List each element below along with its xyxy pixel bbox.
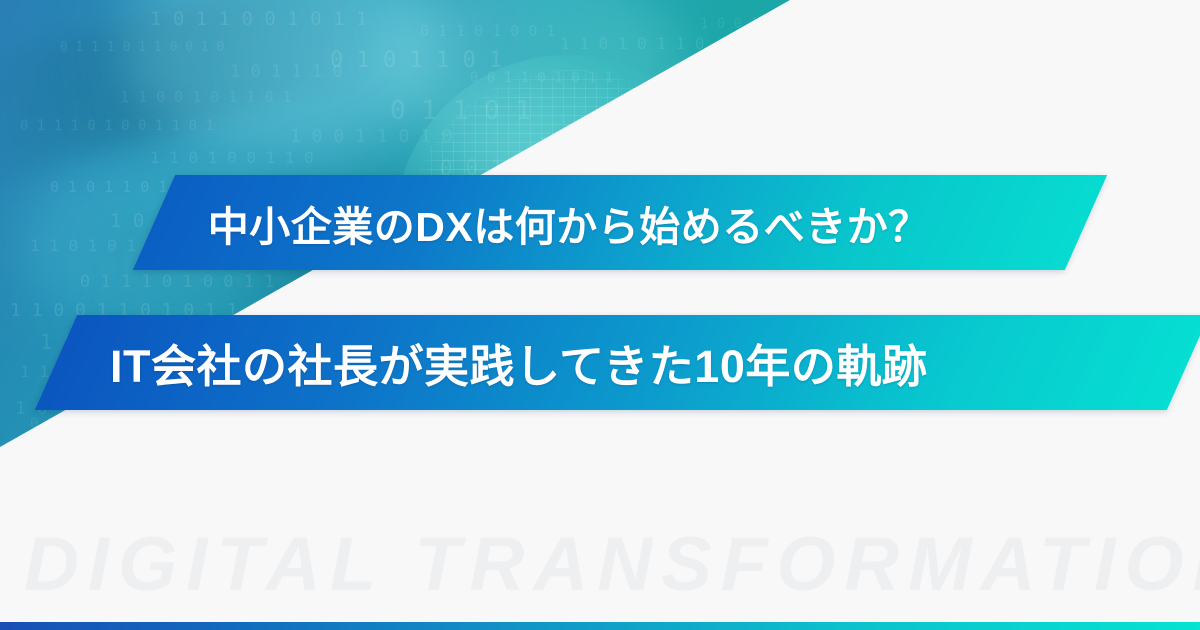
binary-code-row: 1 0 1 0 0 1 1	[660, 78, 817, 102]
headline-banner-secondary: IT会社の社長が実践してきた10年の軌跡	[35, 315, 1200, 410]
binary-code-row: 1 0 1 0 1 1 0	[350, 286, 460, 302]
headline-text-secondary: IT会社の社長が実践してきた10年の軌跡	[110, 330, 927, 395]
headline-text-primary: 中小企業のDXは何から始めるべきか？	[208, 193, 930, 253]
bottom-accent-bar	[0, 622, 1200, 630]
watermark-text: DIGITAL TRANSFORMATION	[24, 527, 1184, 603]
headline-banner-primary: 中小企業のDXは何から始めるべきか？	[133, 175, 1107, 270]
thumbnail-canvas: 1 0 1 1 0 0 1 0 1 10 1 1 0 1 0 0 11 0 0 …	[0, 0, 1200, 630]
binary-code-row: 0 1 1 0 1 1	[540, 134, 639, 152]
binary-code-row: 1 0 1 1 0 0 1	[600, 104, 725, 123]
